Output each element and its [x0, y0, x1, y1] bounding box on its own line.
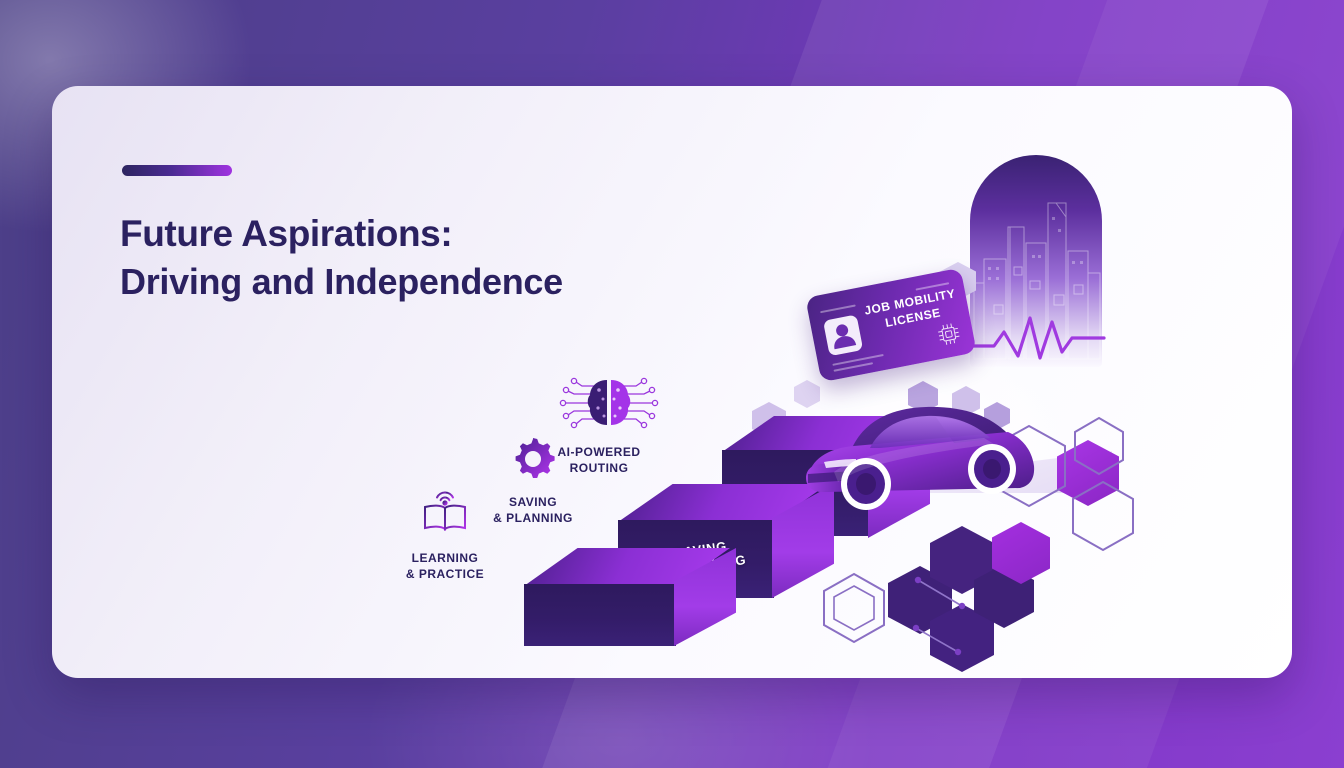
- learning-label-line1: LEARNING: [380, 551, 510, 567]
- microchip-icon: [935, 320, 963, 348]
- sidebar-item-saving-label: SAVING & PLANNING: [468, 495, 598, 526]
- ai-label-line1: AI-POWERED: [544, 445, 654, 461]
- step-block-1: [470, 548, 770, 678]
- purple-sedan-car-icon: [794, 386, 1044, 511]
- ai-brain-circuit-icon: [554, 372, 664, 434]
- hexagon-connectors: [900, 552, 1040, 672]
- open-book-wifi-icon: [417, 486, 473, 540]
- sidebar-item-ai-routing-label: AI-POWERED ROUTING: [544, 445, 654, 476]
- sidebar-item-learning-label: LEARNING & PRACTICE: [380, 551, 510, 582]
- saving-label-line2: & PLANNING: [468, 511, 598, 527]
- slide-stage: Future Aspirations: Driving and Independ…: [0, 0, 1344, 768]
- license-deco-line-1: [820, 304, 856, 313]
- slide-card: Future Aspirations: Driving and Independ…: [52, 86, 1292, 678]
- sidebar-item-ai-routing[interactable]: AI-POWERED ROUTING: [544, 372, 674, 476]
- person-avatar-icon: [823, 314, 863, 356]
- saving-label-line1: SAVING: [468, 495, 598, 511]
- learning-label-line2: & PRACTICE: [380, 567, 510, 583]
- illustration: SAVING & PLANNING: [52, 86, 1292, 678]
- ai-label-line2: ROUTING: [544, 461, 654, 477]
